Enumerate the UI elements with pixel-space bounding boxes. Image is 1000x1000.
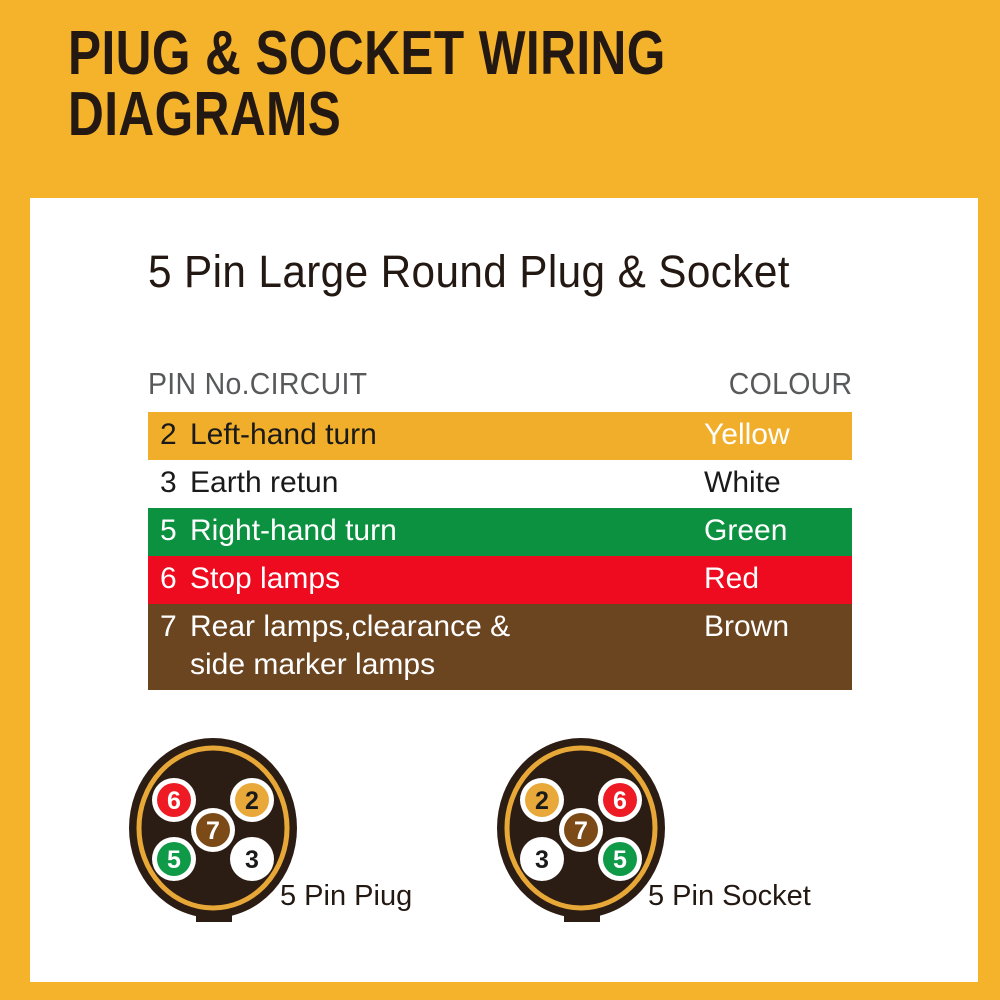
socket-caption: 5 Pin Socket [648, 880, 811, 913]
connector-socket-diagram: 26735 5 Pin Socket [480, 728, 910, 958]
pin-label: 3 [245, 846, 259, 874]
column-header-colour: COLOUR [728, 366, 852, 402]
content-card: 5 Pin Large Round Plug & Socket PIN No.C… [30, 198, 978, 982]
pin-6: 6 [152, 778, 196, 822]
cell-circuit-description: Earth retun [190, 464, 692, 502]
pin-label: 5 [613, 846, 627, 874]
cell-pin-number: 2 [148, 416, 190, 454]
cell-wire-colour: Red [692, 560, 852, 598]
pin-label: 3 [535, 846, 549, 874]
pin-5: 5 [152, 837, 196, 881]
connector-plug-diagram: 62753 5 Pin Piug [112, 728, 542, 958]
cell-wire-colour: Yellow [692, 416, 852, 454]
pin-7: 7 [191, 808, 235, 852]
pin-label: 5 [167, 846, 181, 874]
section-title: 5 Pin Large Round Plug & Socket [148, 246, 790, 298]
pin-label: 6 [613, 787, 627, 815]
cell-wire-colour: Brown [692, 608, 852, 646]
cell-circuit-description: Left-hand turn [190, 416, 692, 454]
table-row: 6Stop lampsRed [148, 556, 852, 604]
cell-wire-colour: Green [692, 512, 852, 550]
pin-7: 7 [559, 808, 603, 852]
cell-pin-number: 5 [148, 512, 190, 550]
table-row: 7Rear lamps,clearance & side marker lamp… [148, 604, 852, 690]
pin-label: 2 [245, 787, 259, 815]
pin-2: 2 [230, 778, 274, 822]
pin-6: 6 [598, 778, 642, 822]
table-row: 3Earth retunWhite [148, 460, 852, 508]
cell-wire-colour: White [692, 464, 852, 502]
cell-pin-number: 6 [148, 560, 190, 598]
pin-label: 7 [574, 817, 588, 845]
cell-circuit-description: Rear lamps,clearance & side marker lamps [190, 608, 692, 684]
pin-5: 5 [598, 837, 642, 881]
table-row: 5Right-hand turnGreen [148, 508, 852, 556]
pin-wiring-table: PIN No.CIRCUIT COLOUR 2Left-hand turnYel… [148, 366, 852, 690]
pin-label: 7 [206, 817, 220, 845]
pin-label: 6 [167, 787, 181, 815]
table-body: 2Left-hand turnYellow3Earth retunWhite5R… [148, 412, 852, 690]
column-header-pin-circuit: PIN No.CIRCUIT [148, 366, 367, 402]
cell-circuit-description: Stop lamps [190, 560, 692, 598]
header-banner: PIUG & SOCKET WIRING DIAGRAMS [0, 0, 1000, 198]
pin-2: 2 [520, 778, 564, 822]
pin-3: 3 [230, 837, 274, 881]
table-row: 2Left-hand turnYellow [148, 412, 852, 460]
page-title: PIUG & SOCKET WIRING DIAGRAMS [68, 24, 676, 146]
table-header-row: PIN No.CIRCUIT COLOUR [148, 366, 852, 412]
pin-label: 2 [535, 787, 549, 815]
connector-diagrams: 62753 5 Pin Piug 26735 5 Pin Socket [30, 728, 978, 978]
cell-pin-number: 7 [148, 608, 190, 646]
cell-pin-number: 3 [148, 464, 190, 502]
plug-caption: 5 Pin Piug [280, 880, 412, 913]
cell-circuit-description: Right-hand turn [190, 512, 692, 550]
pin-3: 3 [520, 837, 564, 881]
